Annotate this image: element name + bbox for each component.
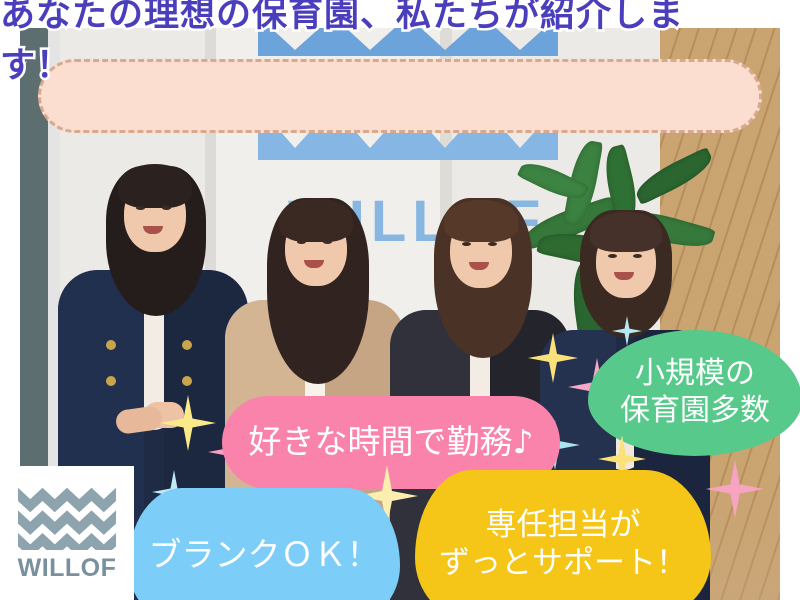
willof-logo-badge[interactable]: WILLOF <box>0 466 134 600</box>
logo-wordmark: WILLOF <box>18 554 117 583</box>
bubble-dedicated-support-text: 専任担当が ずっとサポート！ <box>439 507 687 583</box>
advertisement-banner: WILLOF <box>0 0 800 600</box>
bubble-small-nursery-text: 小規模の 保育園多数 <box>620 356 770 429</box>
bubble-blank-ok[interactable]: ブランクＯＫ！ <box>128 488 400 600</box>
headline-text: あなたの理想の保育園、私たちが紹介します！ <box>0 0 724 74</box>
bubble-flexible-hours-text: 好きな時間で勤務♪ <box>248 422 533 462</box>
bubble-small-nursery[interactable]: 小規模の 保育園多数 <box>588 330 800 456</box>
bubble-blank-ok-text: ブランクＯＫ！ <box>149 535 380 575</box>
bubble-dedicated-support[interactable]: 専任担当が ずっとサポート！ <box>415 470 711 600</box>
zigzag-chevron-icon <box>15 484 119 550</box>
